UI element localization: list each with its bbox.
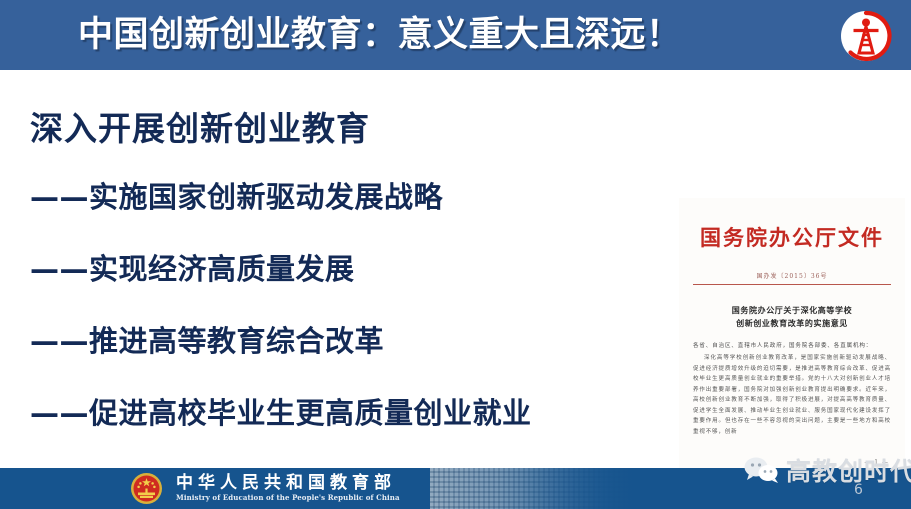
page-title: 中国创新创业教育：意义重大且深远！ xyxy=(78,9,818,61)
page-number: 6 xyxy=(854,482,863,498)
state-council-document-image: 国务院办公厅文件 国办发〔2015〕36号 国务院办公厅关于深化高等学校 创新创… xyxy=(679,198,905,473)
document-salutation: 各省、自治区、直辖市人民政府，国务院各部委、各直属机构： xyxy=(693,341,891,349)
document-title-line-1: 国务院办公厅关于深化高等学校 xyxy=(693,304,891,317)
document-body-text: 深化高等学校创新创业教育改革，是国家实施创新驱动发展战略、促进经济提质增效升级的… xyxy=(693,353,891,437)
ministry-name-cn: 中华人民共和国教育部 xyxy=(176,474,400,493)
bullet-item-4: ——促进高校毕业生更高质量创业就业 xyxy=(30,390,650,432)
national-emblem-icon xyxy=(130,472,163,505)
document-title-line-2: 创新创业教育改革的实施意见 xyxy=(693,317,891,330)
document-page: 国务院办公厅文件 国办发〔2015〕36号 国务院办公厅关于深化高等学校 创新创… xyxy=(679,198,905,473)
slide-header-bar: 中国创新创业教育：意义重大且深远！ xyxy=(0,0,911,70)
bullet-item-1: ——实施国家创新驱动发展战略 xyxy=(30,174,650,216)
channel-watermark: 高教创时代 6 xyxy=(742,452,902,507)
university-emblem-icon xyxy=(838,8,894,64)
presentation-slide: 中国创新创业教育：意义重大且深远！ 深入开展创新创业教育 ——实施国家创新驱动发… xyxy=(0,0,911,509)
ministry-of-education-label: 中华人民共和国教育部 Ministry of Education of the … xyxy=(176,474,400,503)
ministry-name-en: Ministry of Education of the People's Re… xyxy=(176,493,400,503)
document-title: 国务院办公厅关于深化高等学校 创新创业教育改革的实施意见 xyxy=(693,304,891,330)
bullet-item-2: ——实现经济高质量发展 xyxy=(30,246,650,288)
content-headline: 深入开展创新创业教育 xyxy=(30,102,650,150)
wechat-icon xyxy=(742,455,782,485)
slide-body: 深入开展创新创业教育 ——实施国家创新驱动发展战略 ——实现经济高质量发展 ——… xyxy=(0,70,911,468)
watermark-text: 高教创时代 xyxy=(786,452,911,488)
content-text-block: 深入开展创新创业教育 ——实施国家创新驱动发展战略 ——实现经济高质量发展 ——… xyxy=(30,102,650,432)
document-masthead: 国务院办公厅文件 xyxy=(693,222,891,252)
bullet-item-3: ——推进高等教育综合改革 xyxy=(30,318,650,360)
ministry-building-photo-fade xyxy=(430,468,660,509)
document-number: 国办发〔2015〕36号 xyxy=(693,271,891,280)
document-divider xyxy=(693,284,891,285)
